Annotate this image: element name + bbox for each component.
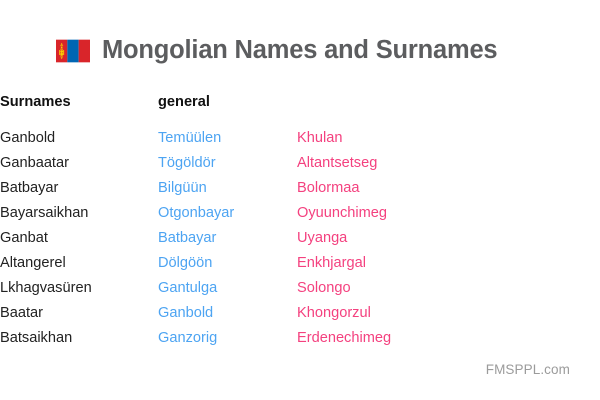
female-name-cell[interactable]: Khulan: [297, 126, 391, 151]
general-name-cell[interactable]: Dölgöön: [158, 251, 297, 276]
general-name-cell[interactable]: Bilgüün: [158, 176, 297, 201]
names-table-body: Ganbold Temüülen Khulan Ganbaatar Tögöld…: [0, 126, 391, 351]
general-name-cell[interactable]: Batbayar: [158, 226, 297, 251]
female-name-cell[interactable]: Uyanga: [297, 226, 391, 251]
surname-cell: Batsaikhan: [0, 326, 158, 351]
page-header: Mongolian Names and Surnames: [0, 0, 600, 72]
surname-cell: Baatar: [0, 301, 158, 326]
general-name-cell[interactable]: Tögöldör: [158, 151, 297, 176]
general-name-cell[interactable]: Temüülen: [158, 126, 297, 151]
surname-cell: Batbayar: [0, 176, 158, 201]
surname-cell: Ganbaatar: [0, 151, 158, 176]
table-row: Ganbat Batbayar Uyanga: [0, 226, 391, 251]
table-row: Lkhagvasüren Gantulga Solongo: [0, 276, 391, 301]
names-table: Surnames general Ganbold Temüülen Khulan…: [0, 91, 391, 351]
general-name-cell[interactable]: Gantulga: [158, 276, 297, 301]
surname-cell: Ganbold: [0, 126, 158, 151]
female-name-cell[interactable]: Oyuunchimeg: [297, 201, 391, 226]
table-row: Altangerel Dölgöön Enkhjargal: [0, 251, 391, 276]
general-name-cell[interactable]: Ganzorig: [158, 326, 297, 351]
female-name-cell[interactable]: Bolormaa: [297, 176, 391, 201]
table-row: Batsaikhan Ganzorig Erdenechimeg: [0, 326, 391, 351]
mongolia-flag-icon: [56, 39, 90, 63]
footer-brand: FMSPPL.com: [486, 362, 570, 377]
surname-cell: Ganbat: [0, 226, 158, 251]
table-header-row: Surnames general: [0, 91, 391, 126]
table-row: Bayarsaikhan Otgonbayar Oyuunchimeg: [0, 201, 391, 226]
general-name-cell[interactable]: Otgonbayar: [158, 201, 297, 226]
table-row: Baatar Ganbold Khongorzul: [0, 301, 391, 326]
female-name-cell[interactable]: Enkhjargal: [297, 251, 391, 276]
page-title: Mongolian Names and Surnames: [102, 38, 497, 64]
table-row: Ganbold Temüülen Khulan: [0, 126, 391, 151]
column-header-female: [297, 91, 391, 126]
surname-cell: Bayarsaikhan: [0, 201, 158, 226]
general-name-cell[interactable]: Ganbold: [158, 301, 297, 326]
female-name-cell[interactable]: Khongorzul: [297, 301, 391, 326]
female-name-cell[interactable]: Solongo: [297, 276, 391, 301]
surname-cell: Lkhagvasüren: [0, 276, 158, 301]
surname-cell: Altangerel: [0, 251, 158, 276]
female-name-cell[interactable]: Erdenechimeg: [297, 326, 391, 351]
table-row: Batbayar Bilgüün Bolormaa: [0, 176, 391, 201]
table-row: Ganbaatar Tögöldör Altantsetseg: [0, 151, 391, 176]
column-header-general: general: [158, 91, 297, 126]
column-header-surnames: Surnames: [0, 91, 158, 126]
female-name-cell[interactable]: Altantsetseg: [297, 151, 391, 176]
